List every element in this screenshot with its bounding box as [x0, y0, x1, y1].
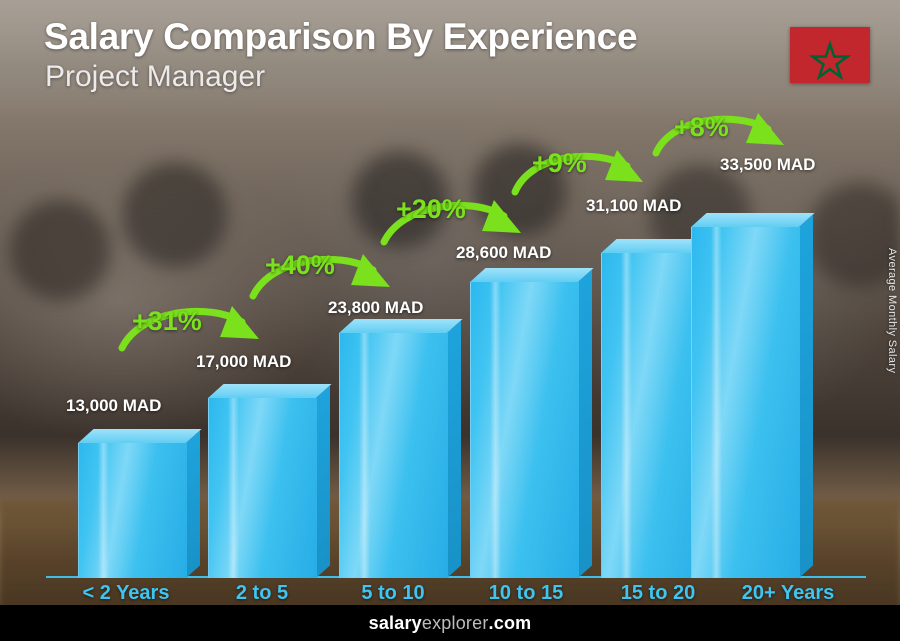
bar-category-label-5: 20+ Years: [718, 582, 858, 605]
growth-percent-label-3: +9%: [532, 148, 587, 179]
bar-category-label-1: 2 to 5: [196, 582, 328, 605]
bar-top-face-3: [470, 268, 594, 282]
bar-gloss-5: [711, 227, 722, 578]
bar-category-label-0: < 2 Years: [60, 582, 192, 605]
brand-light: explorer: [422, 613, 489, 633]
bar-top-face-2: [339, 319, 463, 333]
bar-group-1: [208, 398, 316, 578]
bar-value-label-0: 13,000 MAD: [66, 396, 161, 416]
bar-side-face-0: [186, 430, 200, 578]
growth-percent-label-1: +40%: [265, 250, 335, 281]
brand-bold: salary: [369, 613, 422, 633]
growth-percent-label-4: +8%: [674, 112, 729, 143]
bar-front-face-5: [691, 227, 800, 578]
bar-gloss-2: [359, 333, 370, 578]
bar-gloss-0: [98, 443, 109, 578]
bar-top-face-5: [691, 213, 815, 227]
bar-category-label-4: 15 to 20: [588, 582, 728, 605]
bar-side-face-1: [316, 385, 330, 578]
bar-front-face-1: [208, 398, 317, 578]
bar-front-face-3: [470, 282, 579, 578]
bar-chart-plot: 13,000 MAD < 2 Years 17,000 MAD 2 to 5 2…: [0, 0, 900, 641]
bar-category-label-3: 10 to 15: [456, 582, 596, 605]
salary-chart-infographic: Salary Comparison By Experience Project …: [0, 0, 900, 641]
bar-group-0: [78, 443, 186, 578]
brand-logo[interactable]: salaryexplorer.com: [369, 613, 532, 634]
bar-front-face-2: [339, 333, 448, 578]
bar-group-5: [691, 227, 799, 578]
bar-top-face-1: [208, 384, 332, 398]
bar-side-face-3: [578, 269, 592, 578]
growth-percent-label-0: +31%: [132, 306, 202, 337]
bar-side-face-5: [799, 214, 813, 578]
growth-percent-label-2: +20%: [396, 194, 466, 225]
bar-gloss-4: [621, 253, 632, 578]
bar-top-face-0: [78, 429, 202, 443]
bar-gloss-1: [228, 398, 239, 578]
bar-category-label-2: 5 to 10: [327, 582, 459, 605]
bar-side-face-2: [447, 320, 461, 578]
bar-front-face-0: [78, 443, 187, 578]
bar-group-3: [470, 282, 578, 578]
brand-tld: .com: [489, 613, 532, 633]
footer-bar: salaryexplorer.com: [0, 605, 900, 641]
bar-group-2: [339, 333, 447, 578]
bar-gloss-3: [490, 282, 501, 578]
